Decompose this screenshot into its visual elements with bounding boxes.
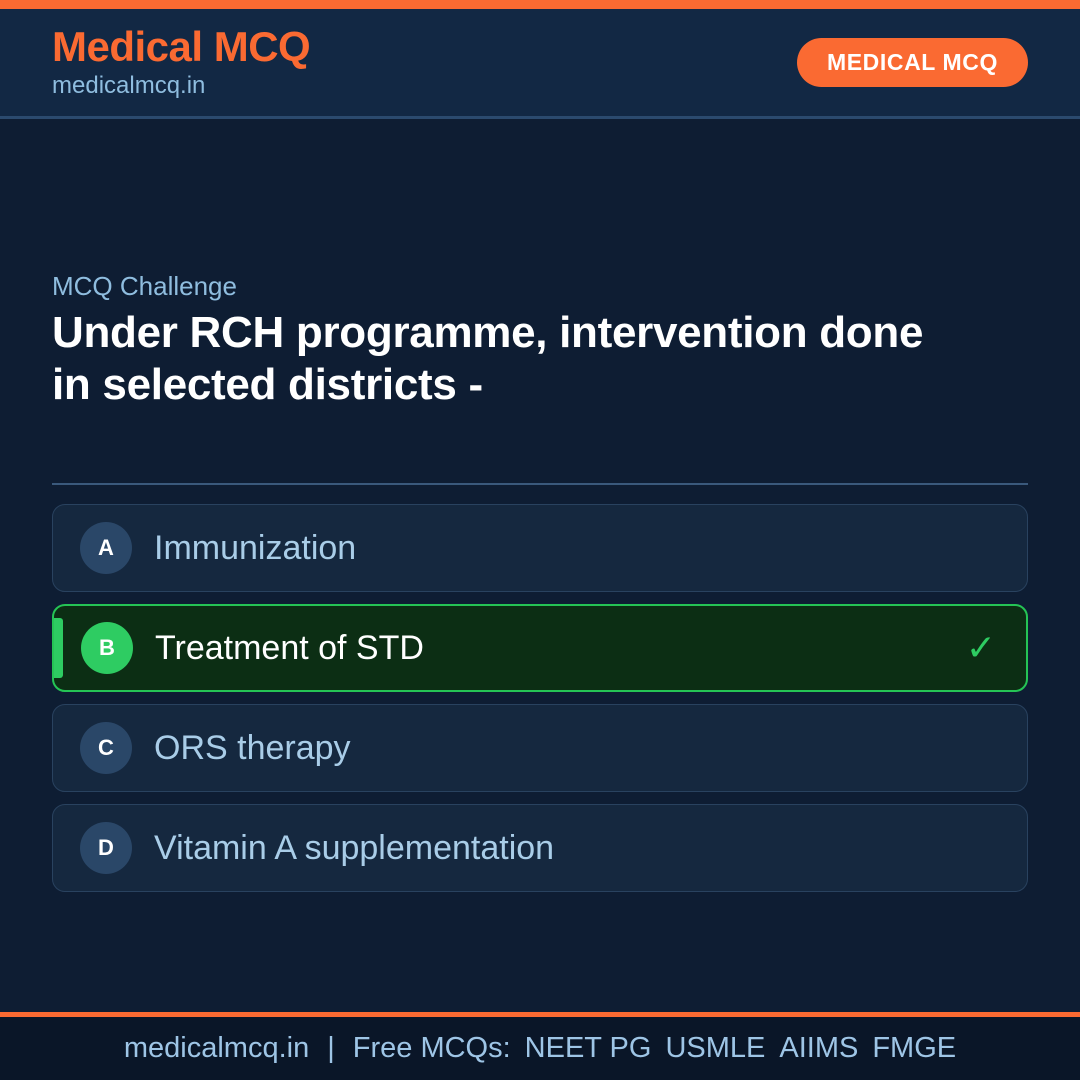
footer-separator: | bbox=[309, 1032, 353, 1065]
footer-site-link[interactable]: medicalmcq.in bbox=[124, 1032, 309, 1065]
option-label: Treatment of STD bbox=[155, 628, 966, 669]
header: Medical MCQ medicalmcq.in MEDICAL MCQ bbox=[0, 9, 1080, 119]
mcq-card: Medical MCQ medicalmcq.in MEDICAL MCQ MC… bbox=[0, 0, 1080, 1080]
option-label: ORS therapy bbox=[154, 728, 997, 769]
footer-exam-neet-pg[interactable]: NEET PG bbox=[511, 1032, 652, 1065]
option-row[interactable]: A Immunization ✓ bbox=[52, 504, 1028, 592]
option-label: Vitamin A supplementation bbox=[154, 828, 997, 869]
main-content: MCQ Challenge Under RCH programme, inter… bbox=[0, 119, 1080, 1012]
eyebrow-label: MCQ Challenge bbox=[52, 271, 237, 302]
check-icon: ✓ bbox=[966, 630, 996, 666]
correct-accent-bar bbox=[54, 618, 63, 678]
option-row[interactable]: B Treatment of STD ✓ bbox=[52, 604, 1028, 692]
options-list: A Immunization ✓ B Treatment of STD ✓ C … bbox=[52, 504, 1028, 892]
footer: medicalmcq.in | Free MCQs: NEET PG USMLE… bbox=[0, 1012, 1080, 1080]
option-letter-badge: A bbox=[80, 522, 132, 574]
footer-exam-usmle[interactable]: USMLE bbox=[651, 1032, 765, 1065]
footer-content: medicalmcq.in | Free MCQs: NEET PG USMLE… bbox=[124, 1032, 956, 1065]
footer-exam-fmge[interactable]: FMGE bbox=[858, 1032, 956, 1065]
section-divider bbox=[52, 483, 1028, 485]
option-row[interactable]: C ORS therapy ✓ bbox=[52, 704, 1028, 792]
question-text: Under RCH programme, intervention done i… bbox=[52, 307, 932, 411]
footer-exam-aiims[interactable]: AIIMS bbox=[765, 1032, 858, 1065]
option-letter-badge: C bbox=[80, 722, 132, 774]
brand-subtitle: medicalmcq.in bbox=[52, 72, 310, 101]
option-row[interactable]: D Vitamin A supplementation ✓ bbox=[52, 804, 1028, 892]
header-badge: MEDICAL MCQ bbox=[797, 38, 1028, 87]
footer-label: Free MCQs: bbox=[353, 1032, 511, 1065]
option-label: Immunization bbox=[154, 528, 997, 569]
option-letter-badge: B bbox=[81, 622, 133, 674]
top-accent-bar bbox=[0, 0, 1080, 9]
brand-title: Medical MCQ bbox=[52, 24, 310, 69]
option-letter-badge: D bbox=[80, 822, 132, 874]
brand-block: Medical MCQ medicalmcq.in bbox=[52, 24, 310, 100]
